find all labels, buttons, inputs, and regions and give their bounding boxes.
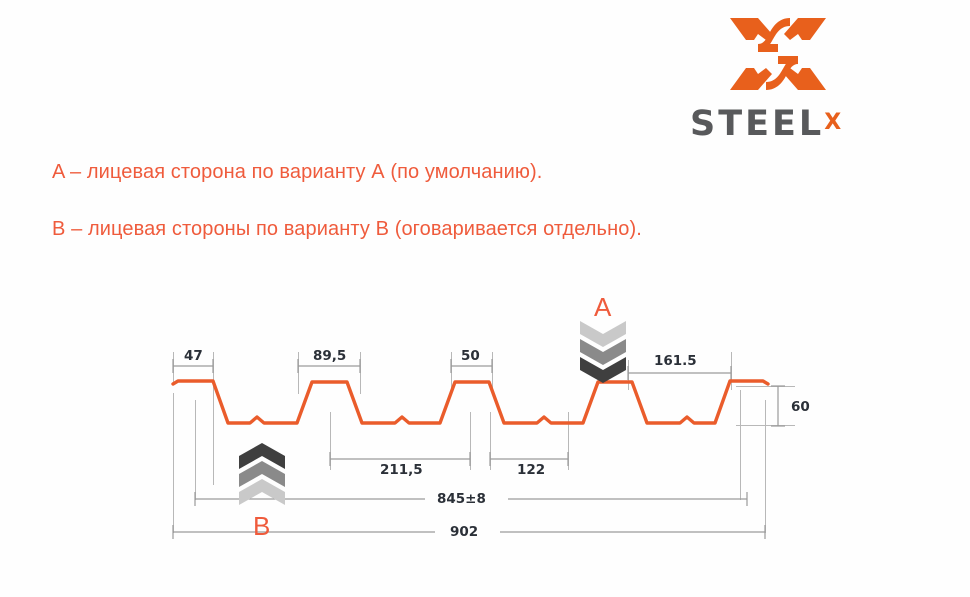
dimension-label-60: 60: [791, 399, 810, 415]
marker-a-letter: A: [594, 292, 611, 323]
marker-a-chevrons: [580, 321, 626, 383]
dimension-label-50: 50: [461, 348, 480, 364]
dimension-label-902: 902: [450, 524, 478, 540]
dimension-label-47: 47: [184, 348, 203, 364]
marker-b: [239, 443, 285, 505]
marker-b-letter: B: [253, 511, 270, 542]
marker-a: [580, 321, 626, 383]
dimension-label-122: 122: [517, 462, 545, 478]
profile-technical-drawing: [0, 0, 970, 597]
dimension-label-89-5: 89,5: [313, 348, 346, 364]
dimension-label-161-5: 161.5: [654, 353, 697, 369]
dimension-label-845: 845±8: [437, 491, 486, 507]
marker-b-chevrons: [239, 443, 285, 505]
height-dimension-line: [771, 386, 785, 426]
dimension-label-211-5: 211,5: [380, 462, 423, 478]
